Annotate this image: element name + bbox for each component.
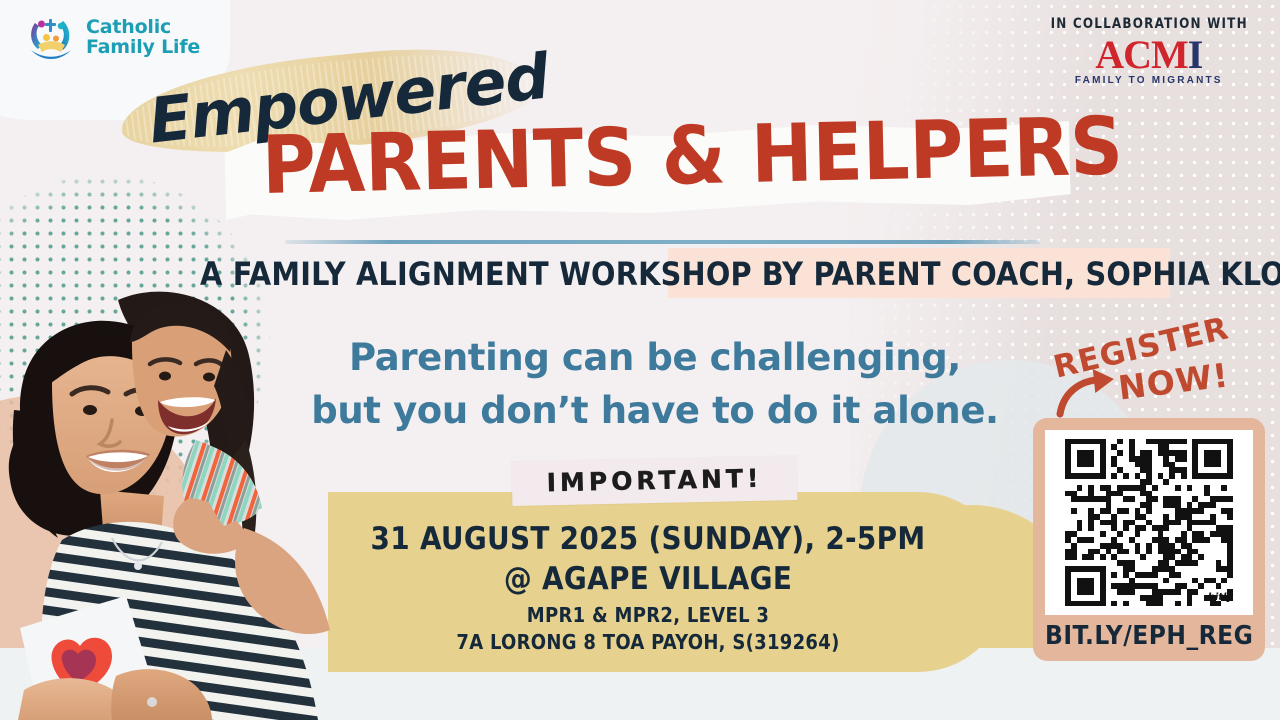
family-emblem-icon <box>26 14 76 62</box>
tagline: Parenting can be challenging, but you do… <box>300 332 1010 437</box>
curved-arrow-icon <box>1054 366 1124 418</box>
event-date-time: 31 AUGUST 2025 (SUNDAY), 2-5PM <box>328 520 968 559</box>
event-address: 7A LORONG 8 TOA PAYOH, S(319264) <box>328 629 968 656</box>
poster-canvas: Catholic Family Life IN COLLABORATION WI… <box>0 0 1280 720</box>
event-details: 31 AUGUST 2025 (SUNDAY), 2-5PM @ AGAPE V… <box>328 520 968 656</box>
partner-mark: ACMI <box>1095 36 1202 74</box>
registration-url[interactable]: BIT.LY/EPH_REG <box>1045 621 1253 651</box>
qr-code-frame[interactable]: bitly <box>1045 430 1253 615</box>
tagline-line1: Parenting can be challenging, <box>300 332 1010 385</box>
collaboration-label: IN COLLABORATION WITH <box>1050 16 1247 32</box>
qr-registration-card[interactable]: bitly BIT.LY/EPH_REG <box>1033 418 1265 661</box>
event-venue: @ AGAPE VILLAGE <box>328 559 968 599</box>
partner-tagline: FAMILY TO MIGRANTS <box>1042 75 1256 86</box>
event-room: MPR1 & MPR2, LEVEL 3 <box>328 602 968 629</box>
qr-watermark: bitly <box>1208 592 1233 603</box>
partner-mark-acm: ACM <box>1095 32 1188 77</box>
collaboration-block: IN COLLABORATION WITH ACMI FAMILY TO MIG… <box>1042 16 1256 86</box>
subtitle: A FAMILY ALIGNMENT WORKSHOPBY PARENT COA… <box>200 255 1280 293</box>
subtitle-part2: BY PARENT COACH, SOPHIA KLOPP <box>762 255 1280 293</box>
organizer-name-line2: Family Life <box>86 38 200 58</box>
organizer-wordmark: Catholic Family Life <box>86 18 200 58</box>
qr-code-icon[interactable] <box>1065 439 1233 607</box>
tagline-line2: but you don’t have to do it alone. <box>300 385 1010 438</box>
title-underline <box>285 240 1040 244</box>
organizer-logo: Catholic Family Life <box>26 14 200 62</box>
status-badge: IMPORTANT! <box>512 463 798 498</box>
subtitle-part1: A FAMILY ALIGNMENT WORKSHOP <box>200 255 752 293</box>
register-now-callout: REGISTER NOW! <box>1046 310 1261 420</box>
partner-mark-i: I <box>1188 32 1203 77</box>
organizer-name-line1: Catholic <box>86 18 200 38</box>
mother-and-child-photo <box>0 290 350 720</box>
page-title: PARENTS & HELPERS <box>261 106 1124 206</box>
partner-logo: ACMI FAMILY TO MIGRANTS <box>1042 36 1256 86</box>
